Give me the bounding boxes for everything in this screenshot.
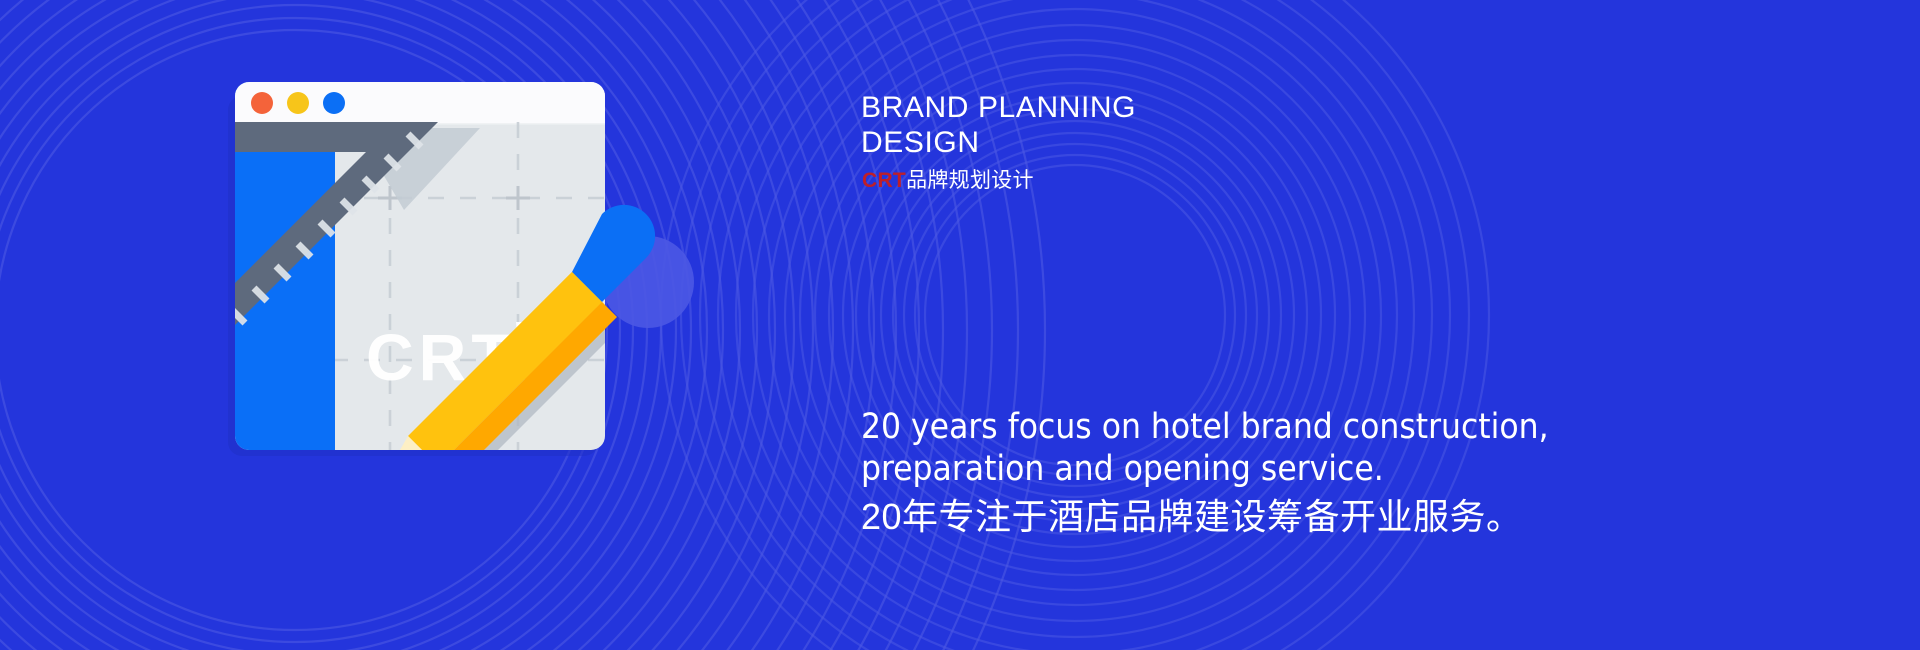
copy-block: BRAND PLANNING DESIGN CRT品牌规划设计 20 years…: [861, 0, 1861, 650]
minimize-dot: [287, 92, 309, 114]
sub-brand-mark: CRT: [862, 169, 906, 192]
body-copy-cn: 20年专注于酒店品牌建设筹备开业服务。: [861, 494, 1681, 540]
sub-headline-cn: 品牌规划设计: [906, 169, 1034, 192]
design-illustration: CRT: [180, 60, 860, 600]
sub-headline: CRT品牌规划设计: [862, 168, 1034, 193]
close-dot: [251, 92, 273, 114]
window-dots: [251, 92, 345, 114]
body-copy-en: 20 years focus on hotel brand constructi…: [861, 406, 1681, 490]
headline: BRAND PLANNING DESIGN: [861, 90, 1291, 160]
brand-banner: CRT: [0, 0, 1920, 650]
maximize-dot: [323, 92, 345, 114]
